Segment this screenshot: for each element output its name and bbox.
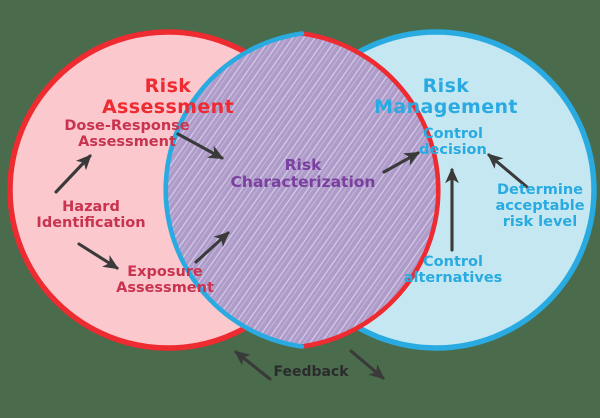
- venn-diagram: Risk Assessment Risk Management Dose-Res…: [0, 0, 600, 418]
- venn-diagram-canvas: [0, 0, 600, 418]
- arrow-feedback-to-risk-assessment: [236, 352, 270, 379]
- arrow-feedback-to-risk-management: [351, 351, 383, 378]
